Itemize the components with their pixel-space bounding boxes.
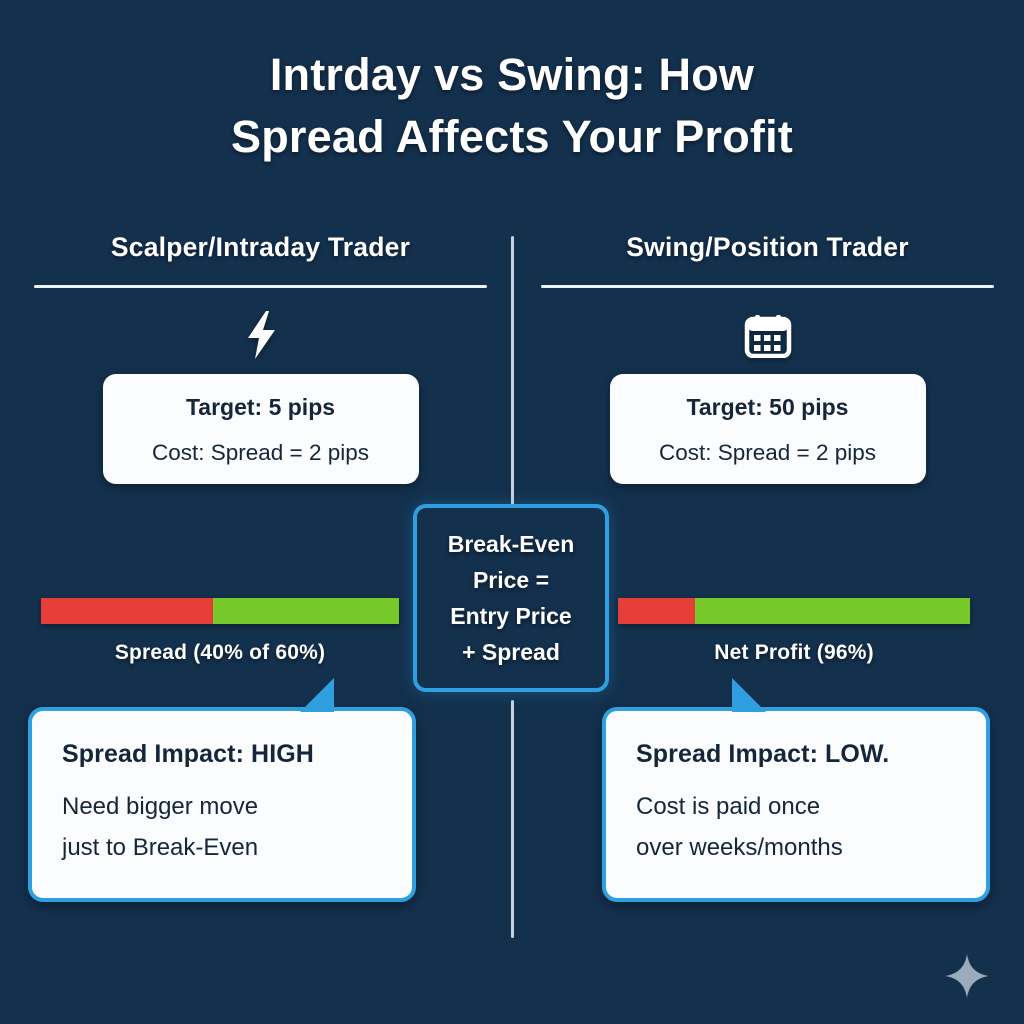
target-value-right: Target: 50 pips (620, 392, 916, 422)
stacked-bar-left (41, 598, 399, 624)
sparkle-icon (944, 953, 990, 999)
bar-chart-right: Net Profit (96%) (618, 598, 970, 665)
bar-segment-spread-right (618, 598, 695, 624)
title-line-1: Intrday vs Swing: How (0, 44, 1024, 106)
break-even-formula-box: Break-Even Price = Entry Price + Spread (413, 504, 609, 692)
callout-body-left-line-2: just to Break-Even (62, 827, 382, 868)
infographic-canvas: Intrday vs Swing: How Spread Affects You… (0, 0, 1024, 1024)
column-swing-position: Swing/Position Trader Target: 50 pips Co… (540, 232, 995, 484)
bar-chart-left: Spread (40% of 60%) (41, 598, 399, 665)
page-title: Intrday vs Swing: How Spread Affects You… (0, 44, 1024, 168)
break-even-line-4: + Spread (462, 639, 560, 665)
callout-body-right-line-2: over weeks/months (636, 827, 956, 868)
callout-body-right: Cost is paid once over weeks/months (636, 786, 956, 868)
callout-title-left: Spread Impact: HIGH (62, 738, 382, 771)
break-even-line-3: Entry Price (450, 603, 571, 629)
lightning-bolt-icon (33, 308, 488, 362)
callout-title-right: Spread Impact: LOW. (636, 738, 956, 771)
bar-label-right: Net Profit (96%) (618, 641, 970, 665)
callout-body-left-line-1: Need bigger move (62, 786, 382, 827)
callout-right: Spread Impact: LOW. Cost is paid once ov… (602, 707, 990, 902)
calendar-icon (540, 308, 995, 362)
column-heading-left: Scalper/Intraday Trader (33, 232, 488, 285)
bar-label-left: Spread (40% of 60%) (41, 641, 399, 665)
callout-body-right-line-1: Cost is paid once (636, 786, 956, 827)
target-value-left: Target: 5 pips (113, 392, 409, 422)
stacked-bar-right (618, 598, 970, 624)
column-rule-right (541, 285, 994, 288)
title-line-2: Spread Affects Your Profit (0, 106, 1024, 168)
info-card-right: Target: 50 pips Cost: Spread = 2 pips (610, 374, 926, 484)
column-scalper-intraday: Scalper/Intraday Trader Target: 5 pips C… (33, 232, 488, 484)
callout-body-left: Need bigger move just to Break-Even (62, 786, 382, 868)
break-even-line-2: Price = (473, 567, 549, 593)
bar-segment-profit-left (213, 598, 399, 624)
vertical-divider-bottom (511, 700, 514, 938)
break-even-line-1: Break-Even (448, 531, 575, 557)
callout-pointer-left (300, 678, 334, 712)
info-card-left: Target: 5 pips Cost: Spread = 2 pips (103, 374, 419, 484)
callout-pointer-right (732, 678, 766, 712)
column-heading-right: Swing/Position Trader (540, 232, 995, 285)
bar-segment-profit-right (695, 598, 970, 624)
bar-segment-spread-left (41, 598, 213, 624)
cost-value-right: Cost: Spread = 2 pips (620, 438, 916, 468)
break-even-formula-text: Break-Even Price = Entry Price + Spread (440, 526, 583, 670)
vertical-divider-top (511, 236, 514, 508)
callout-left: Spread Impact: HIGH Need bigger move jus… (28, 707, 416, 902)
cost-value-left: Cost: Spread = 2 pips (113, 438, 409, 468)
column-rule-left (34, 285, 487, 288)
